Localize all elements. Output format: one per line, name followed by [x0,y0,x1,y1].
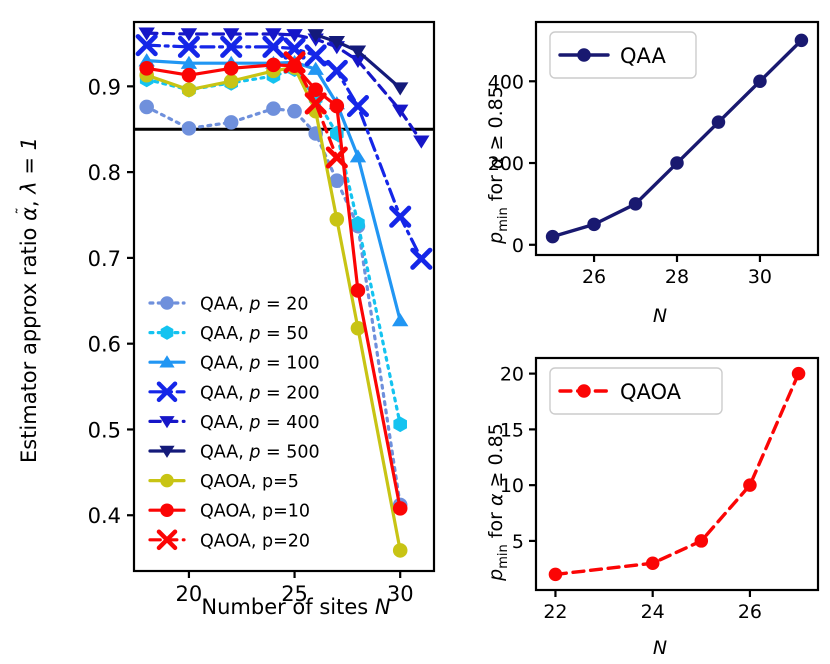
main-yaxis-label-alpha: α [17,207,41,221]
main-yaxis-label: Estimator approx ratio α̃, λ = 1 [15,137,41,463]
marker-qaoa-p-5 [393,543,408,558]
legend-label-qaa-p-50: QAA, p = 50 [200,324,309,344]
marker-qaa-p-200 [328,62,345,79]
marker-qaoa [646,556,660,570]
main-ytick-0.6: 0.6 [88,333,121,357]
marker-qaa [712,115,726,129]
marker-qaa-p-50 [393,416,407,432]
legend-label-qaa-p-20: QAA, p = 20 [200,295,309,315]
main-ytick-0.8: 0.8 [88,161,121,185]
inset-qaoa-xtick-26: 26 [738,601,762,623]
marker-qaa-p-400 [392,105,408,118]
main-xtick-20: 20 [176,582,203,606]
marker-qaa [670,156,684,170]
marker-qaoa [549,568,563,582]
legend-swatch-marker [161,325,174,340]
marker-qaoa-p-10 [393,501,408,516]
legend-label-qaoa-p-5: QAOA, p=5 [200,472,299,492]
main-chart-panel: 2025300.40.50.60.70.80.9 QAA, p = 20QAA,… [0,0,460,664]
marker-qaoa-p-5 [330,212,345,227]
marker-qaoa [695,534,709,548]
inset-qaoa-xaxis-label: N [653,637,667,659]
marker-qaa [629,197,643,211]
legend-label-qaa-p-200: QAA, p = 200 [200,383,320,403]
inset-qaoa-ytick-5: 5 [512,531,524,553]
main-xaxis-label-text: Number of sites [201,595,375,619]
legend-label-qaoa-p-20: QAOA, p=20 [200,531,310,551]
marker-qaoa [743,478,757,492]
marker-qaoa-p-10 [351,283,366,298]
main-legend[interactable]: QAA, p = 20QAA, p = 50QAA, p = 100QAA, p… [150,295,320,552]
main-xaxis-label-var: N [375,595,391,619]
legend-label-qaoa-p-10: QAOA, p=10 [200,502,310,522]
legend-swatch-marker [160,474,174,488]
marker-qaoa-p-10 [330,99,345,114]
main-ytick-0.9: 0.9 [88,75,121,99]
marker-qaa [795,34,809,48]
inset-qaoa-xtick-22: 22 [543,601,567,623]
legend-swatch-marker [577,384,591,398]
marker-qaa-p-20 [224,115,239,130]
inset-qaoa-ytick-20: 20 [500,364,524,386]
main-yaxis-label-text: Estimator approx ratio [17,228,41,463]
marker-qaa-p-100 [350,149,366,162]
marker-qaa [753,75,767,89]
marker-qaa-p-20 [182,121,197,136]
legend-swatch-marker [160,503,174,517]
main-xaxis-label: Number of sites N [201,595,391,619]
inset-qaoa-yaxis-label: pmin for α ≥ 0.85 [485,423,511,582]
marker-qaa-p-20 [139,100,154,115]
marker-qaa-p-200 [307,47,324,64]
inset-qaa-xaxis-label: N [653,305,667,327]
main-ytick-0.7: 0.7 [88,247,121,271]
inset-qaoa-xtick-24: 24 [641,601,665,623]
main-xtick-30: 30 [387,582,414,606]
figure-canvas: 2025300.40.50.60.70.80.9 QAA, p = 20QAA,… [0,0,830,664]
marker-qaa-p-100 [392,313,408,326]
legend-swatch-marker [160,296,174,310]
marker-qaoa-p-5 [224,74,239,89]
marker-qaoa-p-5 [182,82,197,97]
marker-qaoa-p-10 [139,61,154,76]
main-ytick-0.4: 0.4 [88,504,121,528]
marker-qaoa-p-10 [266,58,281,73]
inset-qaoa-legend[interactable]: QAOA [550,368,722,414]
inset-qaa-legend-label: QAA [620,44,666,68]
inset-qaa-panel: 2628300200400 QAA N pmin for α ≥ 0.85 [460,0,830,332]
marker-qaa [546,230,560,244]
marker-qaa-p-400 [413,136,429,149]
main-yaxis-label-lambda: λ = 1 [17,137,41,195]
marker-qaa-p-500 [392,82,408,95]
main-ytick-0.5: 0.5 [88,418,121,442]
marker-qaa-p-20 [287,104,302,119]
inset-qaa-xtick-30: 30 [748,266,772,288]
inset-qaa-ytick-0: 0 [512,235,524,257]
legend-label-qaa-p-500: QAA, p = 500 [200,443,320,463]
inset-qaoa-legend-label: QAOA [620,380,682,404]
inset-qaa-xtick-28: 28 [665,266,689,288]
legend-label-qaa-p-100: QAA, p = 100 [200,354,320,374]
inset-qaa-xtick-26: 26 [582,266,606,288]
legend-swatch-marker [577,48,591,62]
marker-qaa-p-200 [349,97,366,114]
marker-qaoa-p-10 [182,68,197,83]
marker-qaa-p-20 [266,101,281,116]
inset-qaa-legend[interactable]: QAA [550,32,696,78]
marker-qaa-p-200 [413,250,430,267]
marker-qaoa [792,367,806,381]
inset-qaoa-panel: 2224265101520 QAOA N pmin for α ≥ 0.85 [460,332,830,664]
marker-qaa-p-200 [392,208,409,225]
marker-qaoa-p-10 [224,61,239,76]
legend-label-qaa-p-400: QAA, p = 400 [200,413,320,433]
marker-qaa [587,218,601,232]
